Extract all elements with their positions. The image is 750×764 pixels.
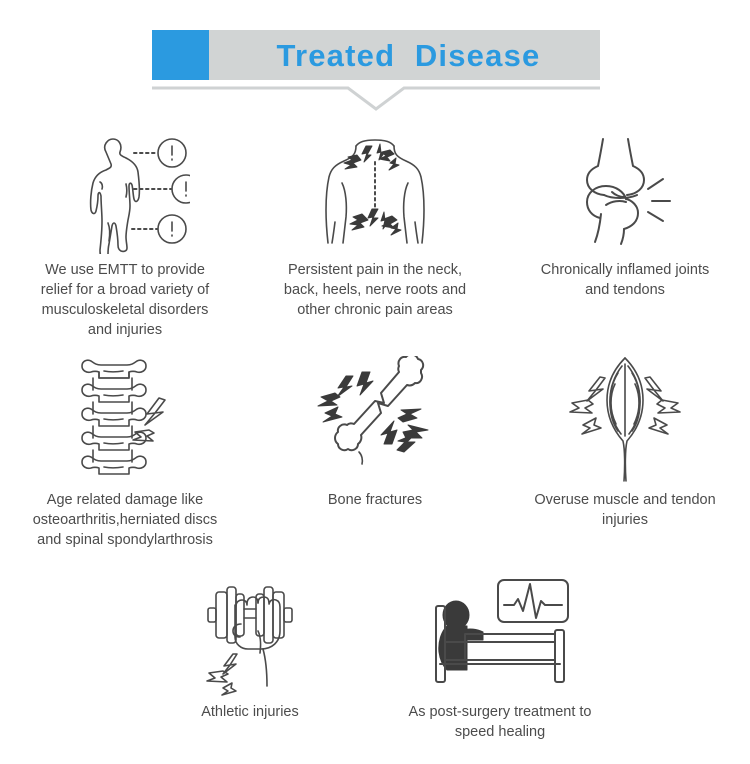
disease-card-5[interactable]: Overuse muscle and tendon injuries bbox=[500, 350, 750, 550]
page-title: Treated Disease bbox=[269, 40, 541, 71]
body-pain-points-icon bbox=[50, 126, 200, 254]
treated-disease-grid: We use EMTT to provide relief for a broa… bbox=[0, 118, 750, 742]
disease-caption: Athletic injuries bbox=[143, 702, 358, 722]
chevron-down-divider-icon bbox=[152, 86, 600, 89]
disease-caption: Persistent pain in the neck, back, heels… bbox=[268, 260, 483, 320]
disease-caption: Chronically inflamed joints and tendons bbox=[518, 260, 733, 300]
disease-card-7[interactable]: As post-surgery treatment to speed heali… bbox=[375, 564, 625, 742]
dumbbell-grip-icon bbox=[175, 568, 325, 696]
grid-row: Athletic injuries bbox=[0, 564, 750, 742]
disease-caption: Age related damage like osteoarthritis,h… bbox=[18, 490, 233, 550]
strained-muscle-icon bbox=[550, 356, 700, 484]
header-accent-block bbox=[152, 30, 209, 80]
header-title-plate: Treated Disease bbox=[209, 30, 600, 80]
grid-row: We use EMTT to provide relief for a broa… bbox=[0, 118, 750, 340]
disease-caption: Bone fractures bbox=[268, 490, 483, 510]
grid-row: Age related damage like osteoarthritis,h… bbox=[0, 350, 750, 550]
header-banner: Treated Disease bbox=[152, 30, 600, 80]
inflamed-knee-joint-icon bbox=[550, 126, 700, 254]
row-spacer bbox=[0, 564, 125, 742]
disease-card-2[interactable]: Chronically inflamed joints and tendons bbox=[500, 118, 750, 340]
disease-card-6[interactable]: Athletic injuries bbox=[125, 564, 375, 742]
disease-card-4[interactable]: Bone fractures bbox=[250, 350, 500, 550]
vertebrae-stack-icon bbox=[50, 356, 200, 484]
page-header: Treated Disease bbox=[0, 0, 750, 112]
disease-card-3[interactable]: Age related damage like osteoarthritis,h… bbox=[0, 350, 250, 550]
disease-caption: We use EMTT to provide relief for a broa… bbox=[18, 260, 233, 340]
disease-caption: Overuse muscle and tendon injuries bbox=[518, 490, 733, 530]
row-spacer bbox=[625, 564, 750, 742]
disease-card-1[interactable]: Persistent pain in the neck, back, heels… bbox=[250, 118, 500, 340]
broken-bone-icon bbox=[300, 356, 450, 484]
back-spine-pain-icon bbox=[300, 126, 450, 254]
disease-caption: As post-surgery treatment to speed heali… bbox=[393, 702, 608, 742]
hospital-bed-ecg-icon bbox=[425, 568, 575, 696]
disease-card-0[interactable]: We use EMTT to provide relief for a broa… bbox=[0, 118, 250, 340]
